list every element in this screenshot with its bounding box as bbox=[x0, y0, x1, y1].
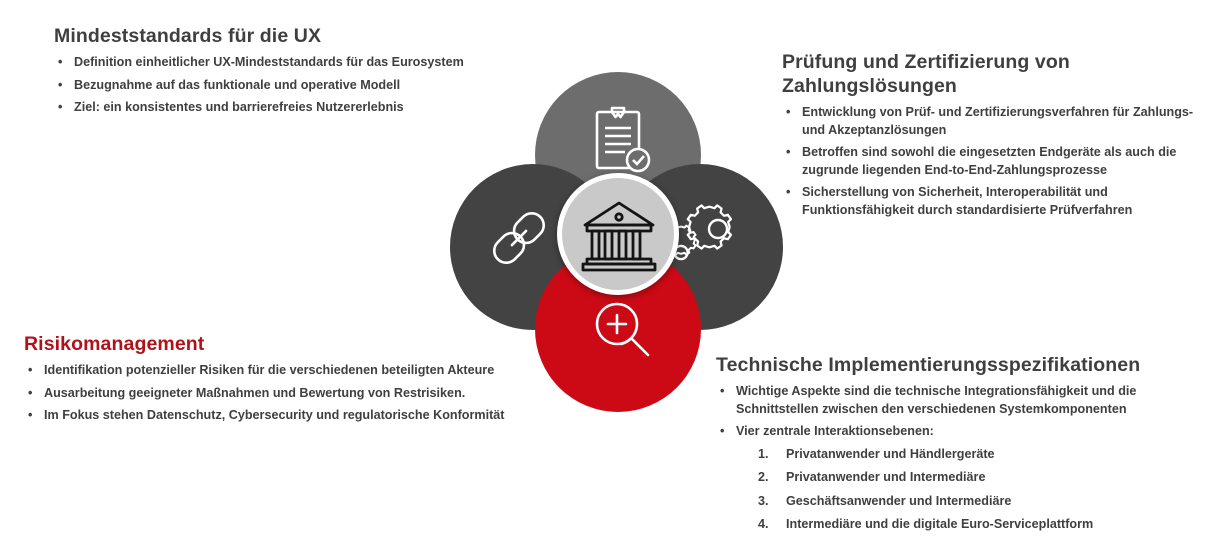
magnifier-plus-icon bbox=[588, 297, 658, 367]
list-item-label: Ziel: ein konsistentes und barrierefreie… bbox=[74, 100, 404, 114]
list-item-number: 2. bbox=[758, 469, 769, 487]
list-item-label: Betroffen sind sowohl die eingesetzten E… bbox=[802, 145, 1176, 177]
list-item: •Vier zentrale Interaktionsebenen: bbox=[716, 423, 1221, 441]
text-block-pruefung: Prüfung und Zertifizierung von Zahlungsl… bbox=[782, 50, 1202, 224]
list-item: •Sicherstellung von Sicherheit, Interope… bbox=[782, 184, 1202, 219]
heading-pruefung: Prüfung und Zertifizierung von Zahlungsl… bbox=[782, 50, 1202, 98]
chain-link-icon bbox=[483, 202, 555, 274]
bullet-icon: • bbox=[28, 385, 32, 403]
list-item: •Betroffen sind sowohl die eingesetzten … bbox=[782, 144, 1202, 179]
list-item: •Ausarbeitung geeigneter Maßnahmen und B… bbox=[24, 385, 524, 403]
list-item-label: Identifikation potenzieller Risiken für … bbox=[44, 363, 494, 377]
list-item-label: Wichtige Aspekte sind die technische Int… bbox=[736, 384, 1136, 416]
bullet-icon: • bbox=[720, 423, 724, 441]
list-item-label: Sicherstellung von Sicherheit, Interoper… bbox=[802, 185, 1132, 217]
list-item: •Identifikation potenzieller Risiken für… bbox=[24, 362, 524, 380]
list-item: •Im Fokus stehen Datenschutz, Cybersecur… bbox=[24, 407, 524, 425]
clipboard-check-icon bbox=[591, 104, 653, 176]
list-item-number: 1. bbox=[758, 446, 769, 464]
list-item: 1.Privatanwender und Händlergeräte bbox=[716, 446, 1221, 464]
bullet-icon: • bbox=[28, 407, 32, 425]
bank-building-icon bbox=[579, 197, 659, 273]
list-item-number: 4. bbox=[758, 516, 769, 534]
heading-technik: Technische Implementierungsspezifikation… bbox=[716, 353, 1221, 378]
list-item: •Bezugnahme auf das funktionale und oper… bbox=[54, 77, 554, 95]
bullet-list-risiko: •Identifikation potenzieller Risiken für… bbox=[24, 362, 524, 425]
gears-icon bbox=[670, 204, 750, 274]
list-item: •Ziel: ein konsistentes und barrierefrei… bbox=[54, 99, 554, 117]
list-item-label: Bezugnahme auf das funktionale und opera… bbox=[74, 78, 400, 92]
bullet-icon: • bbox=[58, 54, 62, 72]
bullet-icon: • bbox=[786, 104, 790, 122]
text-block-technik: Technische Implementierungsspezifikation… bbox=[716, 353, 1221, 540]
text-block-risiko: Risikomanagement •Identifikation potenzi… bbox=[24, 332, 524, 430]
list-item-label: Geschäftsanwender und Intermediäre bbox=[786, 494, 1011, 508]
list-item-label: Intermediäre und die digitale Euro-Servi… bbox=[786, 517, 1093, 531]
list-item: 3.Geschäftsanwender und Intermediäre bbox=[716, 493, 1221, 511]
bullet-icon: • bbox=[786, 144, 790, 162]
list-item: •Definition einheitlicher UX-Mindeststan… bbox=[54, 54, 554, 72]
bullet-icon: • bbox=[28, 362, 32, 380]
bullet-list-ux: •Definition einheitlicher UX-Mindeststan… bbox=[54, 54, 554, 117]
list-item-label: Ausarbeitung geeigneter Maßnahmen und Be… bbox=[44, 386, 465, 400]
list-item-label: Privatanwender und Händlergeräte bbox=[786, 447, 995, 461]
list-item: •Entwicklung von Prüf- und Zertifizierun… bbox=[782, 104, 1202, 139]
list-item-label: Entwicklung von Prüf- und Zertifizierung… bbox=[802, 105, 1193, 137]
text-block-ux: Mindeststandards für die UX •Definition … bbox=[54, 24, 554, 122]
bullet-icon: • bbox=[58, 99, 62, 117]
list-item-label: Definition einheitlicher UX-Mindeststand… bbox=[74, 55, 464, 69]
list-item-label: Vier zentrale Interaktionsebenen: bbox=[736, 424, 934, 438]
heading-risikomanagement: Risikomanagement bbox=[24, 332, 524, 357]
bullet-icon: • bbox=[58, 77, 62, 95]
bullet-icon: • bbox=[720, 383, 724, 401]
slide-canvas: Mindeststandards für die UX •Definition … bbox=[0, 0, 1230, 537]
bullet-list-pruefung: •Entwicklung von Prüf- und Zertifizierun… bbox=[782, 104, 1202, 219]
list-item-number: 3. bbox=[758, 493, 769, 511]
bullet-icon: • bbox=[786, 184, 790, 202]
list-item-label: Im Fokus stehen Datenschutz, Cybersecuri… bbox=[44, 408, 504, 422]
list-item: •Wichtige Aspekte sind die technische In… bbox=[716, 383, 1221, 418]
list-item: 4.Intermediäre und die digitale Euro-Ser… bbox=[716, 516, 1221, 534]
list-item: 2.Privatanwender und Intermediäre bbox=[716, 469, 1221, 487]
heading-ux: Mindeststandards für die UX bbox=[54, 24, 554, 49]
numbered-list-interaktionsebenen: 1.Privatanwender und Händlergeräte 2.Pri… bbox=[716, 446, 1221, 534]
bullet-list-technik: •Wichtige Aspekte sind die technische In… bbox=[716, 383, 1221, 441]
list-item-label: Privatanwender und Intermediäre bbox=[786, 470, 985, 484]
